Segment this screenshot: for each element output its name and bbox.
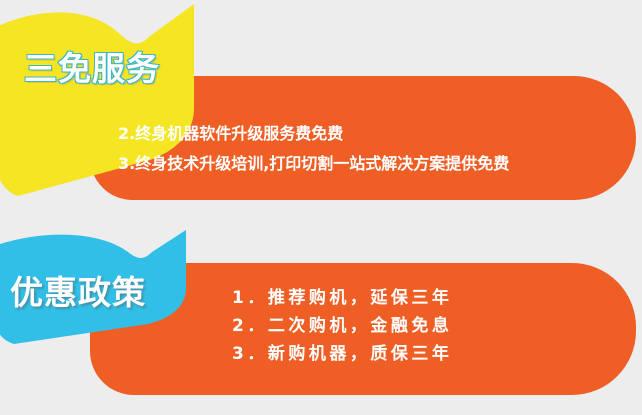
preferential-policy-line-2: 2．二次购机，金融免息 xyxy=(232,312,452,340)
free-service-lines: 2.终身机器软件升级服务费免费 3.终身技术升级培训,打印切割一站式解决方案提供… xyxy=(118,119,509,179)
free-service-line-1: 2.终身机器软件升级服务费免费 xyxy=(118,119,509,149)
preferential-policy-line-3: 3．新购机器，质保三年 xyxy=(232,340,452,368)
preferential-policy-title: 优惠政策 xyxy=(10,266,146,314)
promo-poster: 三免服务 2.终身机器软件升级服务费免费 3.终身技术升级培训,打印切割一站式解… xyxy=(0,0,642,415)
preferential-policy-lines: 1．推荐购机，延保三年 2．二次购机，金融免息 3．新购机器，质保三年 xyxy=(232,284,452,368)
free-service-line-2: 3.终身技术升级培训,打印切割一站式解决方案提供免费 xyxy=(118,149,509,179)
preferential-policy-line-1: 1．推荐购机，延保三年 xyxy=(232,284,452,312)
free-service-title: 三免服务 xyxy=(24,42,160,90)
